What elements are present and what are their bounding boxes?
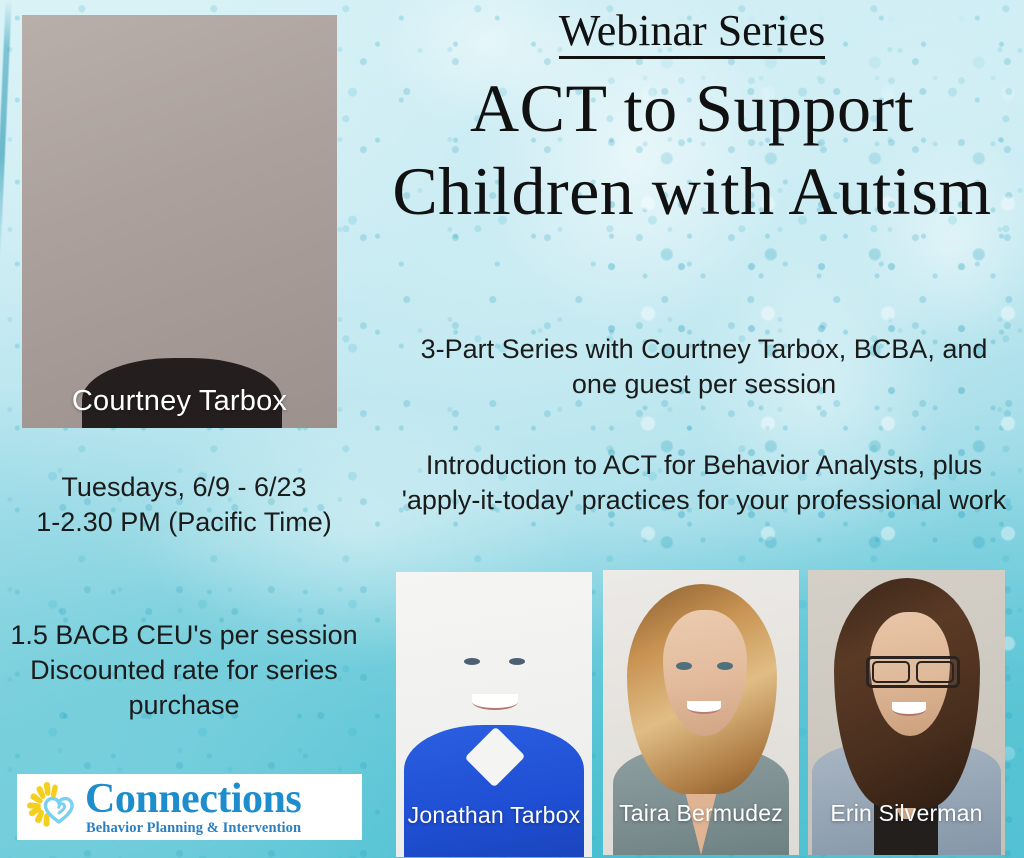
series-description: Introduction to ACT for Behavior Analyst… [396,448,1012,518]
smile [687,701,721,714]
presenter-name-caption: Courtney Tarbox [22,385,337,418]
guest-name-caption: Taira Bermudez [603,800,799,827]
smile [892,702,926,716]
eyeglasses [866,656,960,688]
sunburst-heart-icon [21,779,83,835]
ceu-info-text: 1.5 BACB CEU's per sessionDiscounted rat… [0,618,368,723]
guest-name-caption: Erin Silverman [808,800,1005,827]
right-eye [717,662,733,670]
schedule-text: Tuesdays, 6/9 - 6/231-2.30 PM (Pacific T… [0,470,368,540]
left-eye [676,662,692,670]
headline-block: Webinar Series ACT to Support Children w… [360,8,1024,233]
smile [472,694,518,710]
kicker-text: Webinar Series [559,8,825,59]
logo-tagline: Behavior Planning & Intervention [85,821,301,836]
kicker-wrapper: Webinar Series [360,8,1024,59]
guest-photo-jonathan-tarbox: Jonathan Tarbox [396,572,592,857]
left-eye [464,658,480,665]
presenter-photo-courtney-tarbox: Courtney Tarbox [22,15,337,428]
series-subtitle: 3-Part Series with Courtney Tarbox, BCBA… [404,332,1004,402]
logo-text-block: Connections Behavior Planning & Interven… [85,778,301,836]
guest-photo-erin-silverman: Erin Silverman [808,570,1005,855]
connections-logo[interactable]: Connections Behavior Planning & Interven… [17,774,362,840]
page-title: ACT to Support Children with Autism [360,67,1024,233]
background-crack-line [0,0,12,260]
guest-photo-taira-bermudez: Taira Bermudez [603,570,799,855]
logo-wordmark: Connections [85,778,301,820]
right-eye [509,658,525,665]
webinar-flyer: Courtney Tarbox Webinar Series ACT to Su… [0,0,1024,858]
guest-name-caption: Jonathan Tarbox [396,802,592,829]
